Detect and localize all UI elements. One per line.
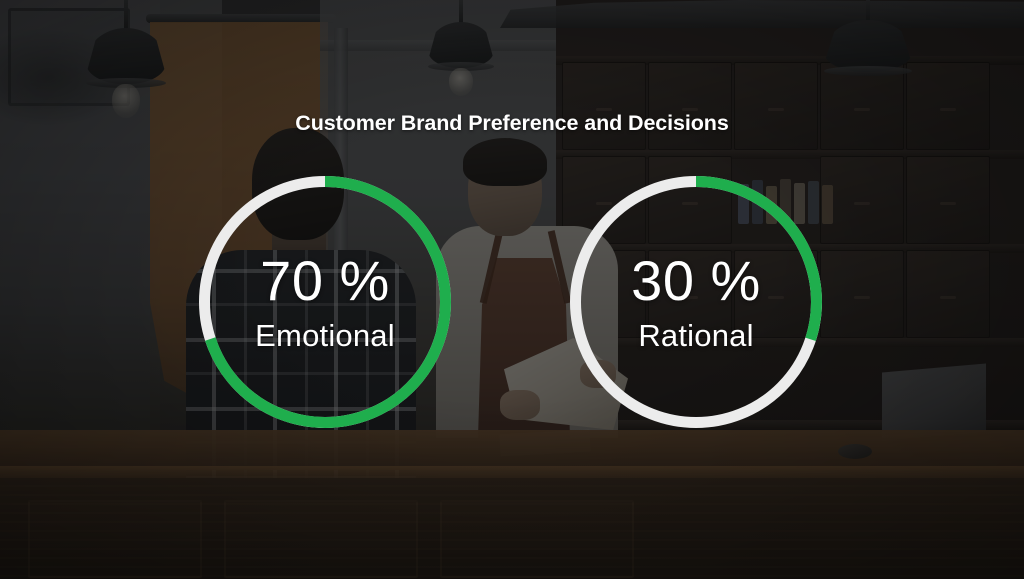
slide-canvas: Customer Brand Preference and Decisions …: [0, 0, 1024, 579]
donut-chart-rational[interactable]: 30 % Rational: [570, 176, 822, 428]
page-title: Customer Brand Preference and Decisions: [0, 111, 1024, 136]
donut-chart-emotional[interactable]: 70 % Emotional: [199, 176, 451, 428]
donut-chart-group: 70 % Emotional 30 % Rational: [0, 176, 1024, 432]
slide-content: Customer Brand Preference and Decisions …: [0, 0, 1024, 579]
